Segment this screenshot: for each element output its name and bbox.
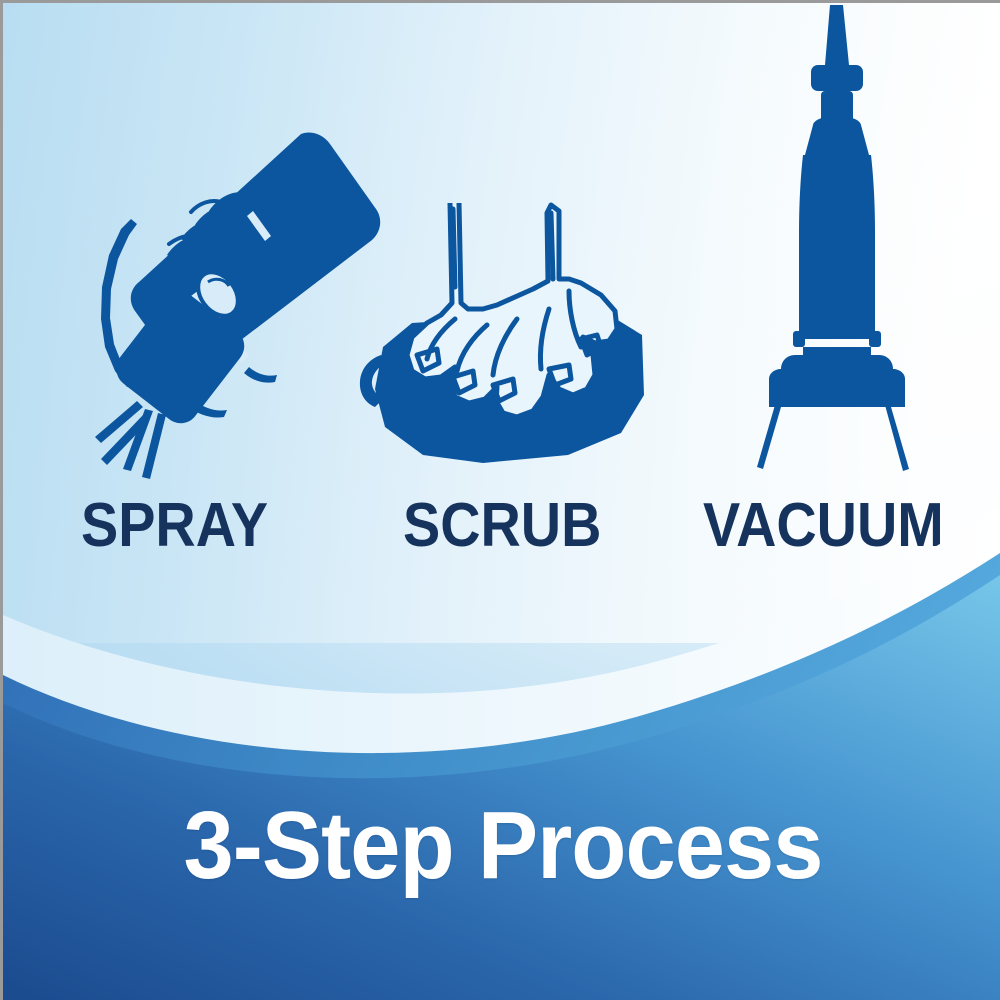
- banner-text-layer: 3-Step Process: [3, 3, 1000, 1000]
- infographic-poster: SPRAY SCRUB VACUUM: [0, 0, 1000, 1000]
- banner-title: 3-Step Process: [33, 798, 973, 894]
